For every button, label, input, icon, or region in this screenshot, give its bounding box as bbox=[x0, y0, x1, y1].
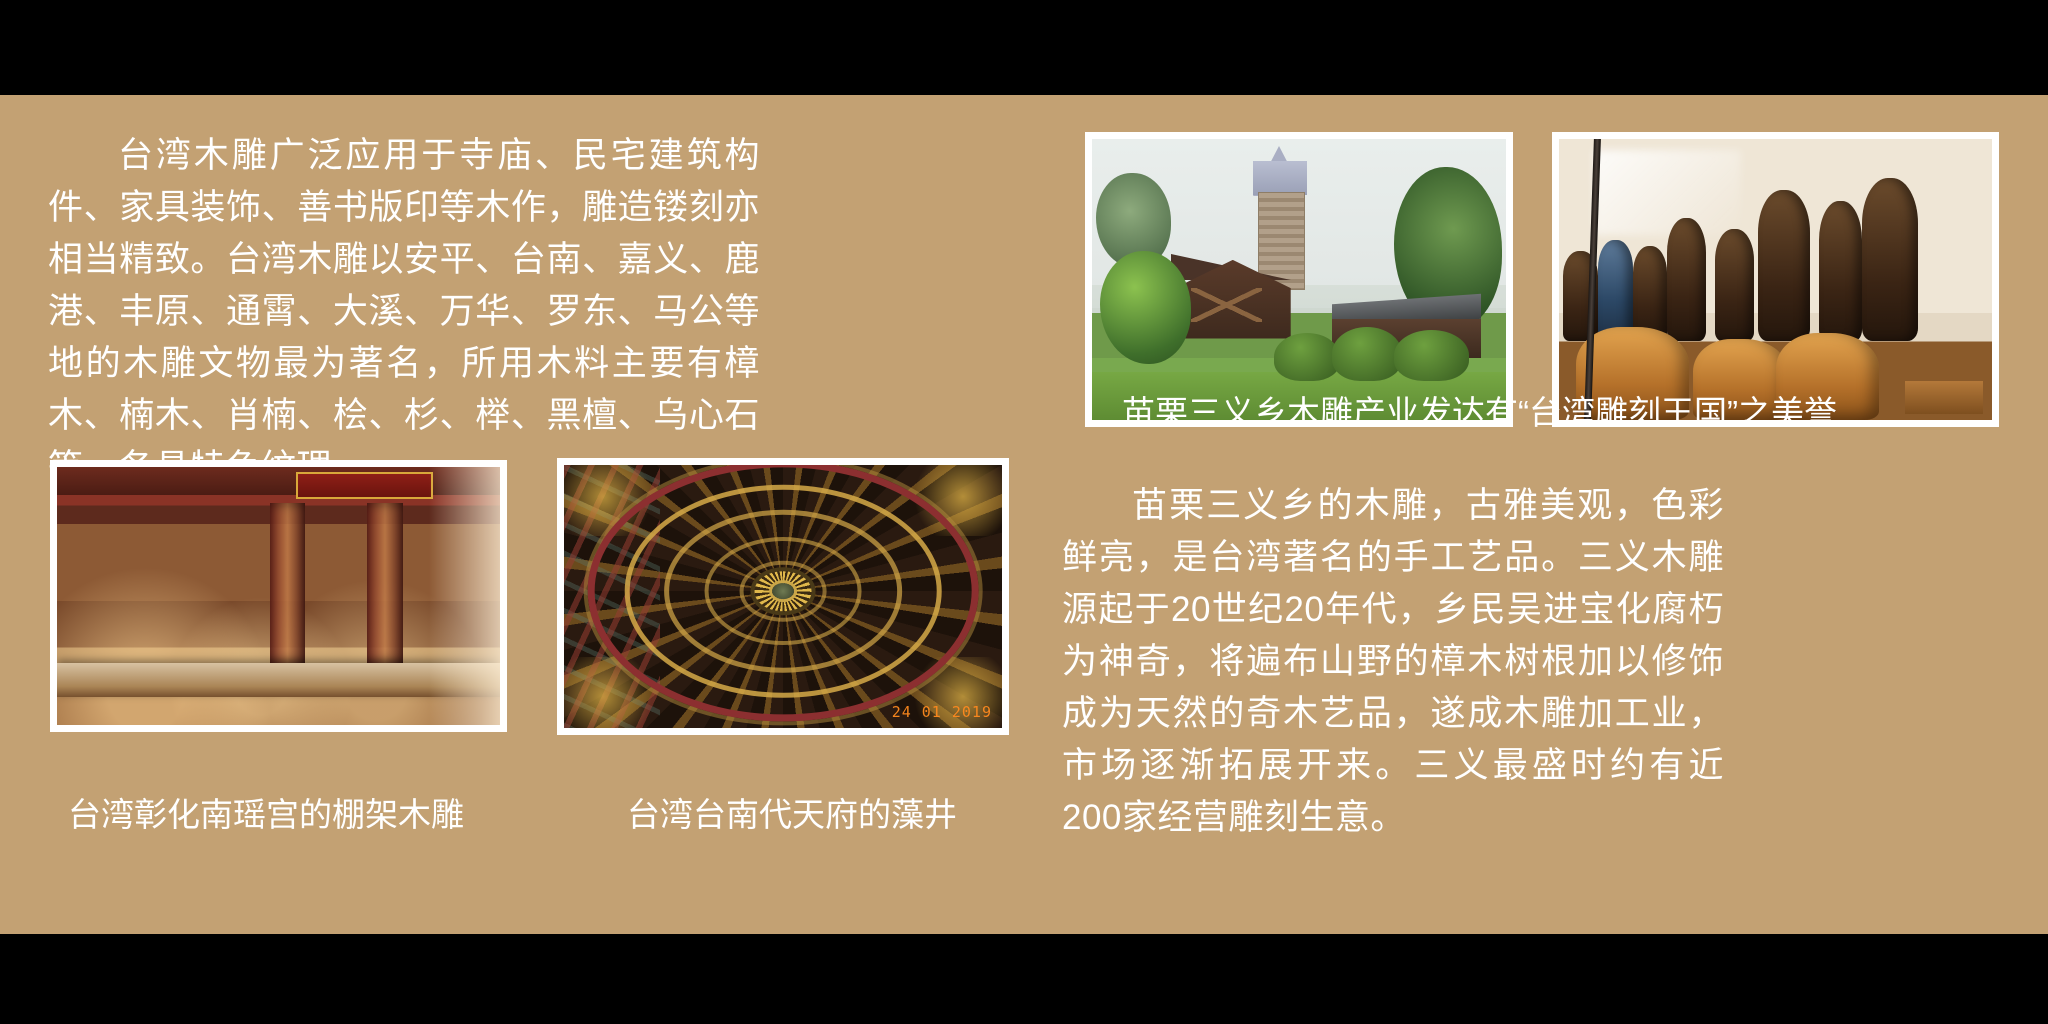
photo-caisson-image: 24 01 2019 bbox=[564, 465, 1002, 728]
garden-bush-3 bbox=[1394, 330, 1469, 381]
garden-bush-1 bbox=[1274, 333, 1340, 381]
photo-sanyi-museum-building[interactable] bbox=[1085, 132, 1513, 427]
photo-museum-image bbox=[1092, 139, 1506, 420]
carved-figure-4 bbox=[1667, 218, 1706, 342]
photo-datestamp: 24 01 2019 bbox=[892, 703, 992, 721]
caption-caisson-ceiling: 台湾台南代天府的藻井 bbox=[627, 795, 957, 835]
wall-reflection bbox=[1594, 150, 1741, 234]
letterbox-bottom bbox=[0, 934, 2048, 1024]
highlight-glow bbox=[429, 467, 500, 725]
slide-root: 台湾木雕广泛应用于寺庙、民宅建筑构件、家具装饰、善书版印等木作，雕造镂刻亦相当精… bbox=[0, 0, 2048, 1024]
carved-figure-8 bbox=[1862, 178, 1918, 341]
gable-cross-brace bbox=[1191, 288, 1261, 322]
display-plinth bbox=[1905, 381, 1983, 415]
slide-canvas: 台湾木雕广泛应用于寺庙、民宅建筑构件、家具装饰、善书版印等木作，雕造镂刻亦相当精… bbox=[0, 95, 2048, 934]
photo-caisson-ceiling[interactable]: 24 01 2019 bbox=[557, 458, 1009, 735]
carved-column-2 bbox=[367, 503, 402, 663]
garden-bush-2 bbox=[1332, 327, 1402, 380]
photo-wood-carving-display-case[interactable] bbox=[1552, 132, 1999, 427]
carved-figure-5 bbox=[1715, 229, 1754, 341]
photo-carvings-image bbox=[1559, 139, 1992, 420]
photo-temple-bracket-carving[interactable] bbox=[50, 460, 507, 732]
carved-figure-2 bbox=[1598, 240, 1633, 341]
right-body-paragraph: 苗栗三义乡的木雕，古雅美观，色彩鲜亮，是台湾著名的手工艺品。三义木雕源起于20世… bbox=[1062, 480, 1724, 844]
caption-sanyi-museum: 苗栗三义乡木雕产业发达有“台湾雕刻王国”之美誉 bbox=[1122, 393, 1837, 433]
temple-plaque-shape bbox=[296, 472, 433, 499]
letterbox-top bbox=[0, 0, 2048, 95]
carved-figure-7 bbox=[1819, 201, 1862, 342]
left-body-paragraph: 台湾木雕广泛应用于寺庙、民宅建筑构件、家具装饰、善书版印等木作，雕造镂刻亦相当精… bbox=[48, 130, 760, 494]
photo-temple-bracket-image bbox=[57, 467, 500, 725]
caption-temple-bracket-carving: 台湾彰化南瑶宫的棚架木雕 bbox=[68, 795, 464, 835]
tower-upper-section bbox=[1253, 161, 1307, 195]
dome-hub-core bbox=[772, 583, 794, 599]
carved-column-1 bbox=[270, 503, 305, 663]
carved-figure-6 bbox=[1758, 190, 1810, 342]
foreground-tree bbox=[1100, 251, 1191, 363]
